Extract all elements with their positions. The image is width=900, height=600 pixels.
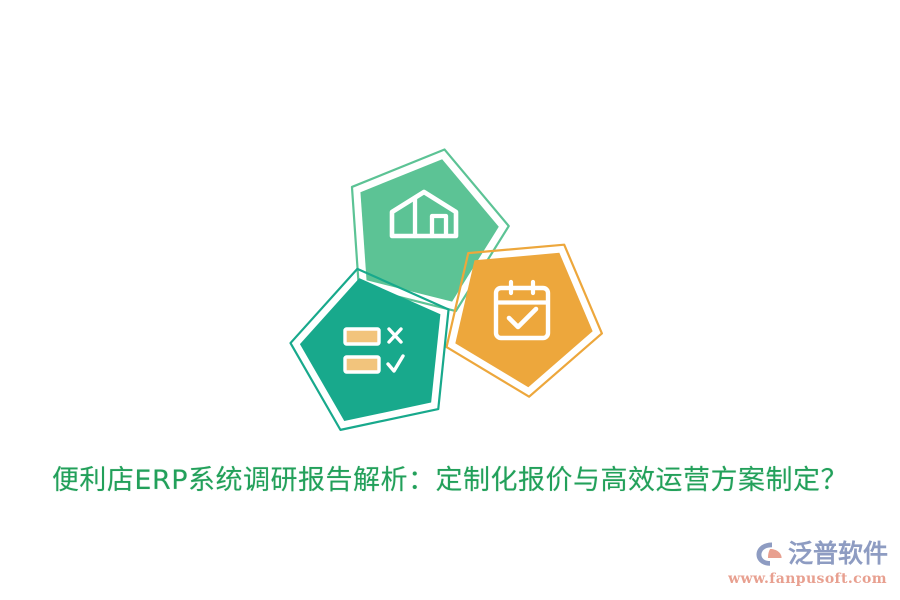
fanpu-logo-watermark: 泛普软件 www.fanpusoft.com [748, 530, 888, 588]
page-title: 便利店ERP系统调研报告解析：定制化报价与高效运营方案制定？ [52, 461, 848, 501]
logo-company-name: 泛普软件 [788, 540, 888, 568]
checklist-row-1-bar [345, 329, 379, 344]
page-root: 便利店ERP系统调研报告解析：定制化报价与高效运营方案制定？ 泛普软件 www.… [0, 0, 900, 600]
pentagon-group [290, 140, 610, 450]
title-bar: 便利店ERP系统调研报告解析：定制化报价与高效运营方案制定？ [0, 455, 900, 507]
fanpu-logo-icon [755, 540, 785, 568]
erp-pentagon-illustration [290, 140, 610, 450]
checklist-row-2-bar [345, 357, 379, 372]
logo-row: 泛普软件 [755, 538, 888, 570]
logo-website-url: www.fanpusoft.com [728, 571, 887, 588]
